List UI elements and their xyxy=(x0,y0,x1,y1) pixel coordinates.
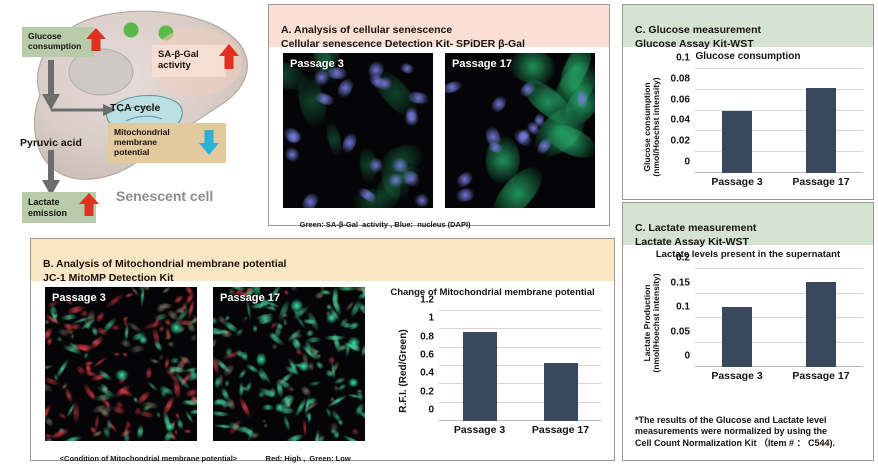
y-axis-tick-label: 0.6 xyxy=(420,350,434,361)
x-axis-tick-label: Passage 17 xyxy=(792,176,849,188)
micrograph-label-passage-17: Passage 17 xyxy=(220,292,280,304)
senescence-figure: Glucose consumption SA-β-Gal activity TC… xyxy=(0,0,878,465)
bar xyxy=(806,282,836,367)
gridline xyxy=(695,151,863,152)
schematic-cell-label: Senescent cell xyxy=(116,188,213,204)
gridline xyxy=(695,130,863,131)
micrograph-label-text: Passage 3 xyxy=(52,292,106,304)
panel-a: A. Analysis of cellular senescence Cellu… xyxy=(268,4,610,226)
glucose-chart: Glucose consumption Glucose consumption … xyxy=(623,47,873,199)
y-axis-tick-label: 0.02 xyxy=(671,136,690,147)
panel-a-caption: Green: SA-β-Gal activity , Blue: nucleus… xyxy=(283,211,471,238)
schematic-box-sa-beta-gal: SA-β-Gal activity xyxy=(152,45,226,77)
y-axis-tick-label: 1 xyxy=(428,313,434,324)
gridline xyxy=(439,310,601,311)
y-axis-tick-label: 0 xyxy=(684,157,690,168)
x-axis-line xyxy=(695,172,863,173)
y-axis-tick-label: 0.04 xyxy=(671,115,690,126)
micrograph-canvas xyxy=(213,287,365,441)
bar xyxy=(544,363,578,421)
y-axis-tick-label: 0.08 xyxy=(671,73,690,84)
schematic-box-glucose-consumption-label: Glucose consumption xyxy=(28,32,81,51)
bar xyxy=(722,307,752,367)
panel-b-header: B. Analysis of Mitochondrial membrane po… xyxy=(31,239,614,281)
micrograph-canvas xyxy=(283,53,433,208)
panel-a-header: A. Analysis of cellular senescence Cellu… xyxy=(269,5,609,47)
micrograph-label-passage-17: Passage 17 xyxy=(452,58,512,70)
panel-c-glucose-body: Glucose consumption Glucose consumption … xyxy=(623,47,873,199)
lactate-chart-title: Lactate levels present in the supernatan… xyxy=(623,249,873,260)
glucose-chart-title-text: Glucose consumption xyxy=(695,51,800,62)
mmp-chart-title: Change of Mitochondrial membrane potenti… xyxy=(371,287,614,298)
y-axis-tick-label: 0.2 xyxy=(420,386,434,397)
schematic-box-lactate-emission-label: Lactate emission xyxy=(28,197,67,218)
glucose-chart-title: Glucose consumption xyxy=(623,51,873,62)
panel-a-caption-text: Green: SA-β-Gal activity , Blue: nucleus… xyxy=(300,220,471,229)
lactate-chart-ylabel-text: Lactate Production (nmol/Hoechst intensi… xyxy=(642,273,662,372)
y-axis-tick-label: 0 xyxy=(684,351,690,362)
micrograph-passage-17-jc1: Passage 17 xyxy=(213,287,365,441)
arrow-up-icon-sabgal xyxy=(218,42,240,70)
panel-c-glucose: C. Glucose measurement Glucose Assay Kit… xyxy=(622,4,874,200)
x-axis-tick-label: Passage 17 xyxy=(792,370,849,382)
panel-c-lactate: C. Lactate measurement Lactate Assay Kit… xyxy=(622,202,874,461)
micrograph-passage-3-spider: Passage 3 xyxy=(283,53,433,208)
gridline xyxy=(695,68,863,69)
panel-c-lactate-footnote-text: *The results of the Glucose and Lactate … xyxy=(635,415,835,448)
arrow-up-icon-glucose xyxy=(85,26,107,52)
x-axis-line xyxy=(695,366,863,367)
y-axis-tick-label: 0 xyxy=(428,405,434,416)
schematic-node-pyruvic-acid-label: Pyruvic acid xyxy=(20,137,82,149)
panel-a-body: Passage 3 Passage 17 Green: SA-β-Gal act… xyxy=(269,47,609,225)
schematic-node-pyruvic-acid: Pyruvic acid xyxy=(20,137,82,149)
y-axis-tick-label: 0.1 xyxy=(676,53,690,64)
glucose-chart-ylabel: Glucose consumption (nmol/Hoechst intens… xyxy=(633,69,662,185)
gridline xyxy=(695,342,863,343)
y-axis-tick-label: 0.15 xyxy=(671,277,690,288)
y-axis-tick-label: 0.06 xyxy=(671,94,690,105)
senescent-cell-schematic: Glucose consumption SA-β-Gal activity TC… xyxy=(0,0,262,230)
y-axis-tick-label: 0.8 xyxy=(420,331,434,342)
x-axis-tick-label: Passage 3 xyxy=(711,370,762,382)
gridline xyxy=(695,89,863,90)
panel-c-lactate-footnote: *The results of the Glucose and Lactate … xyxy=(635,403,871,450)
lactate-chart: Lactate levels present in the supernatan… xyxy=(623,245,873,393)
micrograph-passage-17-spider: Passage 17 xyxy=(445,53,595,208)
panel-b-caption-right: Red: High , Green: Low xyxy=(249,445,351,465)
schematic-node-tca-cycle-label: TCA cycle xyxy=(110,102,160,114)
panel-b-caption-left: <Condition of Mitochondrial membrane pot… xyxy=(43,445,237,465)
micrograph-canvas xyxy=(45,287,197,441)
mmp-chart-ylabel: R.F.I. (Red/Green) xyxy=(387,313,409,429)
panel-b-caption-left-text: <Condition of Mitochondrial membrane pot… xyxy=(60,454,238,463)
lactate-chart-ylabel: Lactate Production (nmol/Hoechst intensi… xyxy=(633,265,662,381)
mmp-chart-plot-area: 00.20.40.60.811.2Passage 3Passage 17 xyxy=(439,311,601,421)
lactate-chart-plot-area: 00.050.10.150.2Passage 3Passage 17 xyxy=(695,269,863,367)
bar xyxy=(806,88,836,173)
micrograph-label-text: Passage 3 xyxy=(290,58,344,70)
panel-b-caption-right-text: Red: High , Green: Low xyxy=(266,454,351,463)
y-axis-tick-label: 0.2 xyxy=(676,253,690,264)
micrograph-label-passage-3: Passage 3 xyxy=(290,58,344,70)
gridline xyxy=(695,293,863,294)
arrow-up-icon-lactate xyxy=(78,191,100,217)
gridline xyxy=(695,317,863,318)
panel-c-glucose-header: C. Glucose measurement Glucose Assay Kit… xyxy=(623,5,873,47)
mmp-chart: Change of Mitochondrial membrane potenti… xyxy=(371,281,614,460)
x-axis-tick-label: Passage 3 xyxy=(711,176,762,188)
bar xyxy=(722,111,752,173)
gridline xyxy=(439,328,601,329)
x-axis-tick-label: Passage 3 xyxy=(454,424,505,436)
schematic-box-glucose-consumption: Glucose consumption xyxy=(22,27,94,57)
schematic-cell-label-text: Senescent cell xyxy=(116,188,213,204)
schematic-node-tca-cycle: TCA cycle xyxy=(110,102,160,114)
y-axis-tick-label: 1.2 xyxy=(420,295,434,306)
schematic-box-mmp-label: Mitochondrial membrane potential xyxy=(114,128,170,157)
gridline xyxy=(695,268,863,269)
panel-b: B. Analysis of Mitochondrial membrane po… xyxy=(30,238,615,461)
panel-c-lactate-header: C. Lactate measurement Lactate Assay Kit… xyxy=(623,203,873,245)
micrograph-passage-3-jc1: Passage 3 xyxy=(45,287,197,441)
micrograph-label-text: Passage 17 xyxy=(452,58,512,70)
y-axis-tick-label: 0.05 xyxy=(671,326,690,337)
y-axis-tick-label: 0.4 xyxy=(420,368,434,379)
x-axis-tick-label: Passage 17 xyxy=(532,424,589,436)
bar xyxy=(463,332,497,421)
panel-c-lactate-body: Lactate levels present in the supernatan… xyxy=(623,245,873,460)
arrow-down-icon-mmp xyxy=(198,128,220,156)
y-axis-tick-label: 0.1 xyxy=(676,302,690,313)
panel-b-body: Passage 3 Passage 17 <Condition of Mitoc… xyxy=(31,281,614,460)
micrograph-label-text: Passage 17 xyxy=(220,292,280,304)
glucose-chart-ylabel-text: Glucose consumption (nmol/Hoechst intens… xyxy=(642,77,662,176)
micrograph-label-passage-3: Passage 3 xyxy=(52,292,106,304)
schematic-box-sa-beta-gal-label: SA-β-Gal activity xyxy=(158,50,199,72)
glucose-chart-plot-area: 00.020.040.060.080.1Passage 3Passage 17 xyxy=(695,69,863,173)
gridline xyxy=(695,110,863,111)
micrograph-canvas xyxy=(445,53,595,208)
mmp-chart-ylabel-text: R.F.I. (Red/Green) xyxy=(398,329,409,412)
